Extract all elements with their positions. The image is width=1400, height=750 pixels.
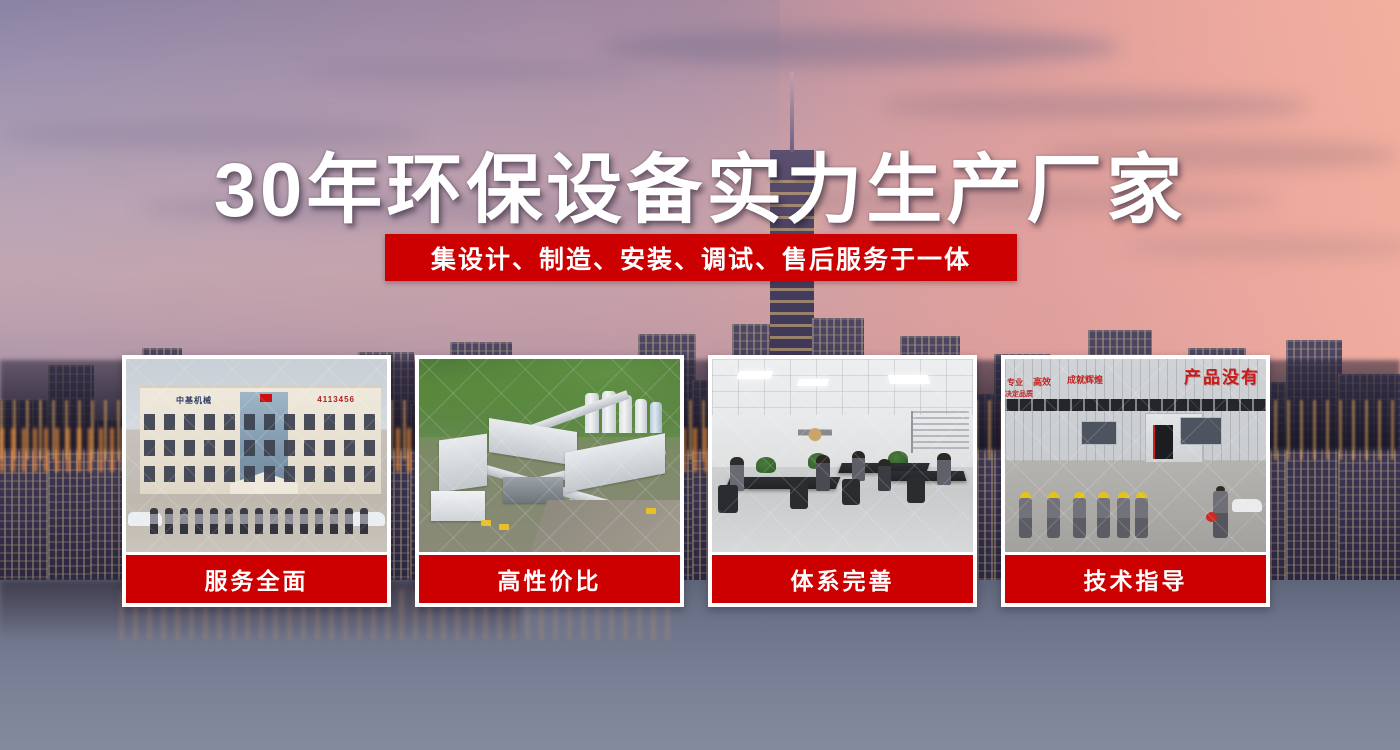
seated-person xyxy=(937,453,951,485)
card-caption: 体系完善 xyxy=(712,555,973,603)
card-label: 服务全面 xyxy=(205,562,309,596)
plant-building xyxy=(565,433,665,492)
card-label: 技术指导 xyxy=(1084,562,1188,596)
worker-figure xyxy=(1019,492,1032,538)
excavator xyxy=(499,524,509,530)
office-chair xyxy=(790,483,808,509)
card-caption: 服务全面 xyxy=(126,555,387,603)
worker-figure xyxy=(1073,492,1086,538)
window-blinds xyxy=(911,411,969,453)
factory-slogan-text: 产品没有 xyxy=(1184,363,1260,388)
office-chair xyxy=(842,479,860,505)
parked-car xyxy=(1232,499,1262,512)
cloud-band xyxy=(880,92,1310,120)
plant-building xyxy=(431,491,485,521)
card-label: 高性价比 xyxy=(498,562,602,596)
ceiling-light xyxy=(797,379,829,386)
factory-side-door xyxy=(1153,425,1173,459)
plant-building xyxy=(439,434,487,493)
excavator xyxy=(646,508,656,514)
card-caption: 高性价比 xyxy=(419,555,680,603)
potted-plant xyxy=(756,457,776,473)
card-label: 体系完善 xyxy=(791,562,895,596)
storage-silo xyxy=(635,399,647,433)
worker-figure xyxy=(1117,492,1130,538)
aerial-plant-photo xyxy=(419,359,680,552)
company-headquarters-photo: 中基机械 4113456 xyxy=(126,359,387,552)
cloud-band xyxy=(600,28,1120,66)
staff-lineup xyxy=(150,500,370,534)
red-helmet-icon xyxy=(1206,512,1217,522)
worker-figure xyxy=(1097,492,1110,538)
storage-silo xyxy=(650,402,662,433)
factory-window xyxy=(1081,421,1117,445)
office-desk xyxy=(888,471,967,481)
ceiling-light xyxy=(888,375,930,384)
feature-card-list: 中基机械 4113456 服务全面 xyxy=(122,355,1279,607)
feature-card[interactable]: 产品没有 专业 高效 成就辉煌 决定品质 xyxy=(1001,355,1270,607)
ceiling-light xyxy=(737,371,773,379)
office-ceiling xyxy=(712,359,973,417)
page-title: 30年环保设备实力生产厂家 xyxy=(0,128,1400,238)
building-phone-text: 4113456 xyxy=(317,395,355,404)
workers-training-photo: 产品没有 专业 高效 成就辉煌 决定品质 xyxy=(1005,359,1266,552)
seated-person xyxy=(852,451,865,481)
instructor-figure xyxy=(1213,486,1228,538)
subtitle-text: 集设计、制造、安装、调试、售后服务于一体 xyxy=(431,240,971,276)
office-building: 中基机械 4113456 xyxy=(140,385,381,498)
card-caption: 技术指导 xyxy=(1005,555,1266,603)
subtitle-banner: 集设计、制造、安装、调试、售后服务于一体 xyxy=(385,234,1017,281)
wall-logo xyxy=(798,419,832,445)
office-interior-photo xyxy=(712,359,973,552)
facade-band xyxy=(1005,399,1266,411)
wall-slogan: 决定品质 xyxy=(1005,389,1033,399)
window-row xyxy=(144,414,377,430)
worker-figure xyxy=(1135,492,1148,538)
worker-figure xyxy=(1047,492,1060,538)
excavator xyxy=(481,520,491,526)
feature-card[interactable]: 中基机械 4113456 服务全面 xyxy=(122,355,391,607)
factory-facade: 产品没有 专业 高效 成就辉煌 决定品质 xyxy=(1005,359,1266,467)
banner-stage: 30年环保设备实力生产厂家 集设计、制造、安装、调试、售后服务于一体 中基机械 … xyxy=(0,0,1400,750)
window-row xyxy=(144,466,377,482)
seated-person xyxy=(878,459,891,491)
plant-road xyxy=(531,500,680,552)
wall-slogan: 成就辉煌 xyxy=(1067,373,1103,386)
feature-card[interactable]: 高性价比 xyxy=(415,355,684,607)
window-row xyxy=(144,440,377,456)
wall-slogan: 高效 xyxy=(1033,375,1051,388)
feature-card[interactable]: 体系完善 xyxy=(708,355,977,607)
factory-window xyxy=(1180,417,1222,445)
wall-slogan: 专业 xyxy=(1007,377,1023,388)
cloud-band xyxy=(300,60,640,82)
flag-icon xyxy=(260,394,272,402)
seated-person xyxy=(816,455,830,491)
office-chair xyxy=(718,485,738,513)
building-sign-text: 中基机械 xyxy=(176,395,212,406)
office-chair xyxy=(907,477,925,503)
